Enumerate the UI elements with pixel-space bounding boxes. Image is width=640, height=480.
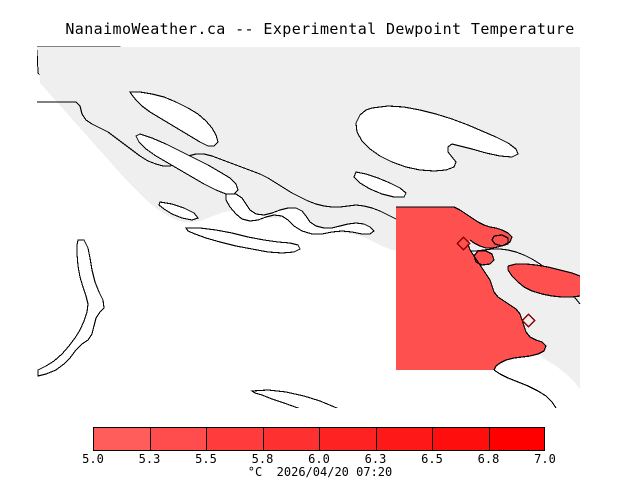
- colorbar-tick-5-0: 5.0: [82, 452, 104, 466]
- colorbar-tick-6-0: 6.0: [308, 452, 330, 466]
- colorbar-segment-8[interactable]: [489, 427, 546, 451]
- colorbar-tick-5-3: 5.3: [139, 452, 161, 466]
- weather-map-page: NanaimoWeather.ca -- Experimental Dewpoi…: [0, 0, 640, 480]
- colorbar-segment-3[interactable]: [206, 427, 263, 451]
- right-margin-mask: [580, 44, 640, 408]
- colorbar-segment-4[interactable]: [263, 427, 320, 451]
- colorbar-tick-7-0: 7.0: [534, 452, 556, 466]
- colorbar-segment-7[interactable]: [432, 427, 489, 451]
- colorbar-tick-5-8: 5.8: [252, 452, 274, 466]
- page-title: NanaimoWeather.ca -- Experimental Dewpoi…: [0, 20, 640, 38]
- colorbar-segment-6[interactable]: [376, 427, 433, 451]
- colorbar-segment-1[interactable]: [93, 427, 150, 451]
- colorbar[interactable]: [93, 427, 545, 451]
- left-margin-mask: [0, 44, 37, 408]
- colorbar-tick-6-3: 6.3: [365, 452, 387, 466]
- map-panel[interactable]: [0, 44, 640, 408]
- colorbar-segment-2[interactable]: [150, 427, 207, 451]
- colorbar-tick-6-5: 6.5: [421, 452, 443, 466]
- map-canvas[interactable]: [0, 44, 640, 408]
- colorbar-tick-6-8: 6.8: [478, 452, 500, 466]
- colorbar-caption: °C 2026/04/20 07:20: [0, 465, 640, 479]
- colorbar-segment-5[interactable]: [319, 427, 376, 451]
- colorbar-tick-5-5: 5.5: [195, 452, 217, 466]
